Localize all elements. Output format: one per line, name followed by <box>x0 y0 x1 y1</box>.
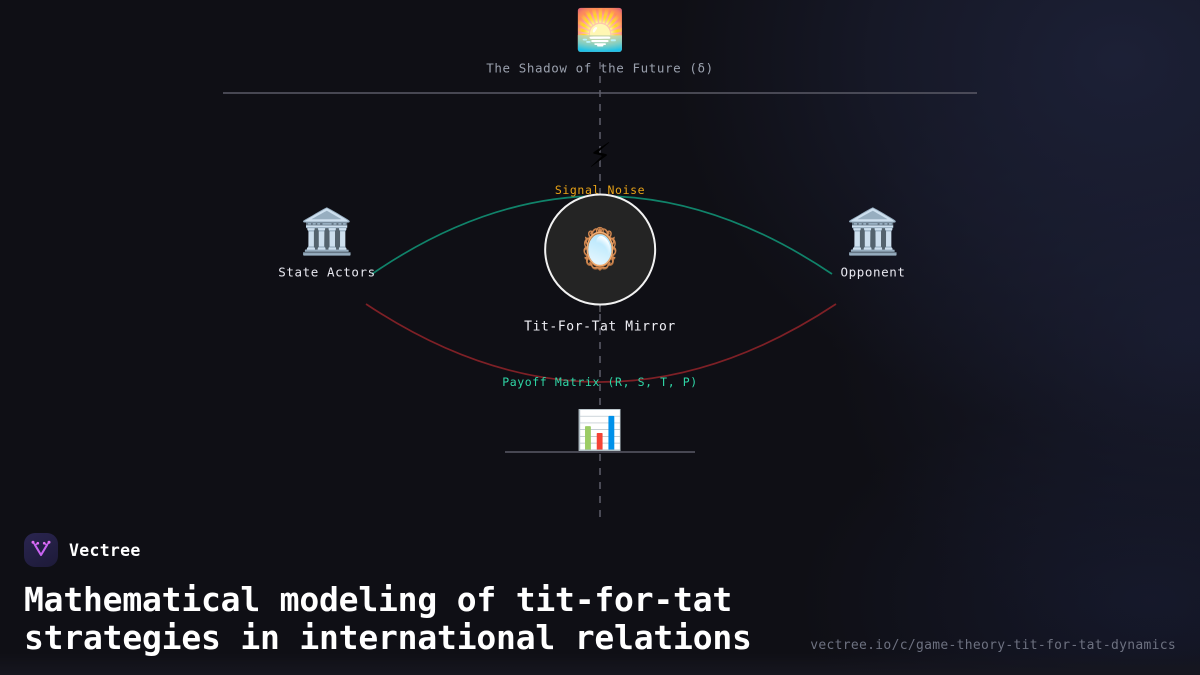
screenshot-root: 🌅 The Shadow of the Future (δ) ⚡ Signal … <box>0 0 1200 675</box>
node-state-actors-label: State Actors <box>278 265 376 280</box>
brand[interactable]: Vectree <box>24 533 1176 567</box>
mirror-icon: 🪞 <box>575 230 625 270</box>
node-tit-for-tat-mirror-label: Tit-For-Tat Mirror <box>524 320 676 335</box>
vectree-logo-icon <box>24 533 58 567</box>
source-url: vectree.io/c/game-theory-tit-for-tat-dyn… <box>810 638 1176 653</box>
hub-circle: 🪞 <box>544 194 656 306</box>
edge-marker-signal-noise[interactable]: ⚡ <box>588 139 612 173</box>
brand-name: Vectree <box>69 541 141 560</box>
classical-building-icon: 🏛️ <box>846 211 901 255</box>
node-opponent[interactable]: 🏛️ Opponent <box>840 211 905 280</box>
node-shadow-of-the-future[interactable]: 🌅 The Shadow of the Future (δ) <box>486 11 714 76</box>
node-tit-for-tat-mirror[interactable]: 🪞 Tit-For-Tat Mirror <box>524 194 676 335</box>
node-payoff-chart[interactable]: 📊 <box>576 411 623 449</box>
node-opponent-label: Opponent <box>840 265 905 280</box>
node-shadow-of-the-future-label: The Shadow of the Future (δ) <box>486 61 714 76</box>
bar-chart-icon: 📊 <box>576 411 623 449</box>
lightning-bolt-icon: ⚡ <box>588 139 612 173</box>
node-state-actors[interactable]: 🏛️ State Actors <box>278 211 376 280</box>
classical-building-icon: 🏛️ <box>300 211 355 255</box>
sunrise-icon: 🌅 <box>575 11 625 51</box>
page-title: Mathematical modeling of tit-for-tat str… <box>24 581 769 657</box>
edge-label-payoff-matrix: Payoff Matrix (R, S, T, P) <box>502 375 698 389</box>
footer: Vectree Mathematical modeling of tit-for… <box>0 533 1200 675</box>
